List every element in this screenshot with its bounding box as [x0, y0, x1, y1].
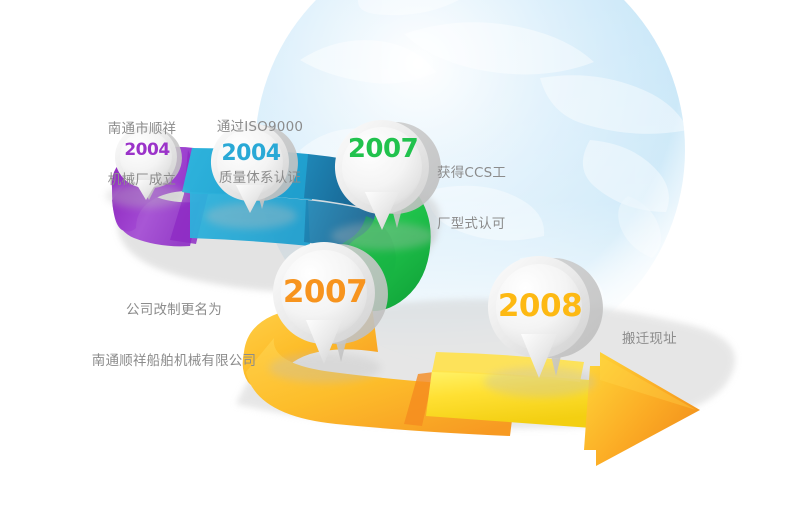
- milestone-caption-3: 获得CCS工 厂型式认可: [437, 131, 557, 267]
- pin-year-5: 2008: [487, 288, 593, 324]
- milestone-caption-4: 公司改制更名为 南通顺祥船舶机械有限公司: [74, 268, 274, 404]
- caption-line: 厂型式认可: [437, 216, 557, 233]
- pin-year-3: 2007: [335, 134, 431, 164]
- caption-line: 通过ISO9000: [201, 119, 319, 136]
- caption-line: 公司改制更名为: [74, 302, 274, 319]
- pin-year-4: 2007: [272, 274, 378, 310]
- pin-marker-5[interactable]: [484, 256, 603, 397]
- caption-line: 南通市顺祥: [86, 121, 198, 138]
- milestone-caption-5: 搬迁现址: [622, 297, 732, 382]
- milestone-caption-2: 通过ISO9000 质量体系认证: [201, 85, 319, 221]
- caption-line: 机械厂成立: [86, 172, 198, 189]
- caption-line: 南通顺祥船舶机械有限公司: [74, 353, 274, 370]
- caption-line: 搬迁现址: [622, 331, 732, 348]
- caption-line: 质量体系认证: [201, 170, 319, 187]
- milestone-pins: [0, 0, 800, 519]
- caption-line: 获得CCS工: [437, 165, 557, 182]
- pin-marker-4[interactable]: [269, 242, 388, 383]
- milestone-caption-1: 南通市顺祥 机械厂成立: [86, 87, 198, 223]
- infographic-canvas: 2004 2004 2007 2007 2008 南通市顺祥 机械厂成立 通过I…: [0, 0, 800, 519]
